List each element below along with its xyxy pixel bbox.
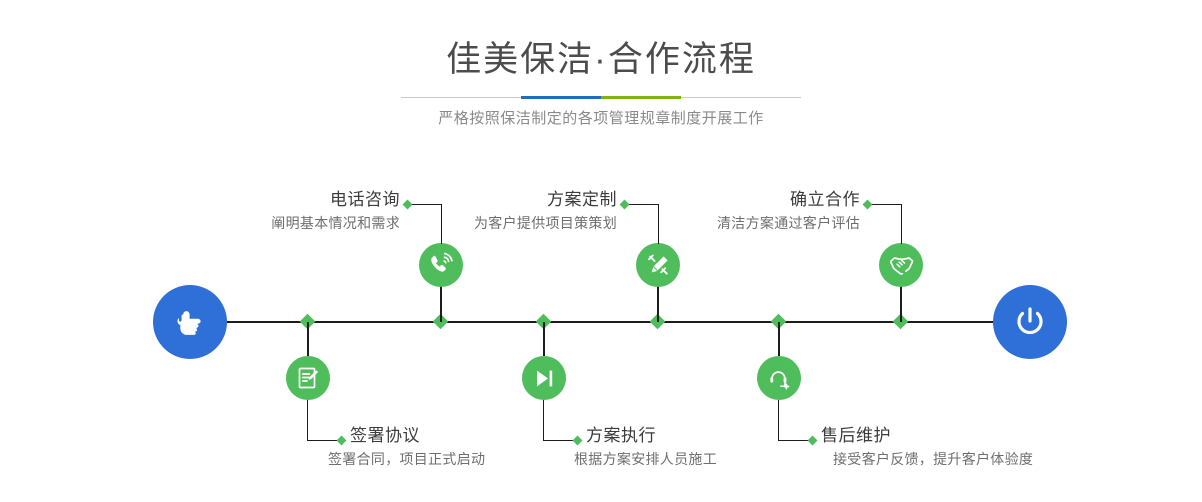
step-desc-2: 签署合同，项目正式启动 <box>328 448 485 470</box>
timeline-callout-tip-5 <box>863 200 873 210</box>
timeline-stem-4 <box>543 322 545 356</box>
step-title-6: 售后维护 <box>821 424 1033 448</box>
step-desc-1: 阐明基本情况和需求 <box>204 212 400 234</box>
timeline-callout-v-6 <box>778 400 779 440</box>
timeline-start-badge <box>153 285 227 359</box>
support-agent-plus-icon <box>767 366 792 391</box>
step-desc-3: 为客户提供项目策策划 <box>417 212 617 234</box>
step-node-2 <box>286 356 330 400</box>
step-title-1: 电话咨询 <box>204 188 400 212</box>
pencil-ruler-icon <box>646 253 671 278</box>
document-pencil-icon <box>296 366 321 391</box>
step-desc-6: 接受客户反馈，提升客户体验度 <box>833 448 1033 470</box>
step-title-3: 方案定制 <box>417 188 617 212</box>
step-label-6: 售后维护 接受客户反馈，提升客户体验度 <box>821 424 1033 470</box>
timeline-stem-3 <box>657 286 659 322</box>
timeline-callout-tip-4 <box>573 436 583 446</box>
divider-blue-segment <box>521 96 601 99</box>
timeline-callout-tip-6 <box>808 436 818 446</box>
handshake-icon <box>888 252 915 279</box>
timeline-callout-h-3 <box>627 204 659 205</box>
page-title: 佳美保洁·合作流程 <box>0 38 1202 82</box>
timeline-stem-1 <box>440 286 442 322</box>
timeline-callout-tip-3 <box>620 200 630 210</box>
timeline-callout-tip-2 <box>337 436 347 446</box>
page-subtitle: 严格按照保洁制定的各项管理规章制度开展工作 <box>0 108 1202 130</box>
step-node-5 <box>879 243 923 287</box>
timeline-callout-v-5 <box>901 204 902 244</box>
timeline-callout-h-5 <box>870 204 902 205</box>
step-title-2: 签署协议 <box>350 424 485 448</box>
timeline-callout-h-6 <box>778 440 811 441</box>
timeline-end-badge <box>993 285 1067 359</box>
ringing-phone-icon <box>428 252 454 278</box>
step-desc-5: 清洁方案通过客户评估 <box>660 212 860 234</box>
step-title-4: 方案执行 <box>586 424 717 448</box>
step-node-4 <box>522 356 566 400</box>
step-label-1: 电话咨询 阐明基本情况和需求 <box>204 188 400 234</box>
step-label-3: 方案定制 为客户提供项目策策划 <box>417 188 617 234</box>
timeline-callout-v-3 <box>658 204 659 244</box>
divider-green-segment <box>601 96 681 99</box>
step-title-5: 确立合作 <box>660 188 860 212</box>
step-label-5: 确立合作 清洁方案通过客户评估 <box>660 188 860 234</box>
timeline-stem-2 <box>307 322 309 356</box>
step-label-4: 方案执行 根据方案安排人员施工 <box>586 424 717 470</box>
timeline-callout-h-2 <box>307 440 340 441</box>
title-divider <box>401 96 801 99</box>
process-flow-infographic: 佳美保洁·合作流程 严格按照保洁制定的各项管理规章制度开展工作 <box>0 0 1202 502</box>
step-desc-4: 根据方案安排人员施工 <box>574 448 717 470</box>
timeline-callout-tip-1 <box>403 200 413 210</box>
pointing-hand-icon <box>170 302 210 342</box>
timeline-callout-h-4 <box>543 440 576 441</box>
timeline-callout-v-4 <box>543 400 544 440</box>
step-node-1 <box>419 243 463 287</box>
play-execute-icon <box>532 366 557 391</box>
timeline-callout-v-2 <box>307 400 308 440</box>
step-node-3 <box>636 243 680 287</box>
power-icon <box>1009 301 1051 343</box>
timeline-stem-6 <box>778 322 780 356</box>
step-node-6 <box>757 356 801 400</box>
timeline-stem-5 <box>900 286 902 322</box>
step-label-2: 签署协议 签署合同，项目正式启动 <box>350 424 485 470</box>
